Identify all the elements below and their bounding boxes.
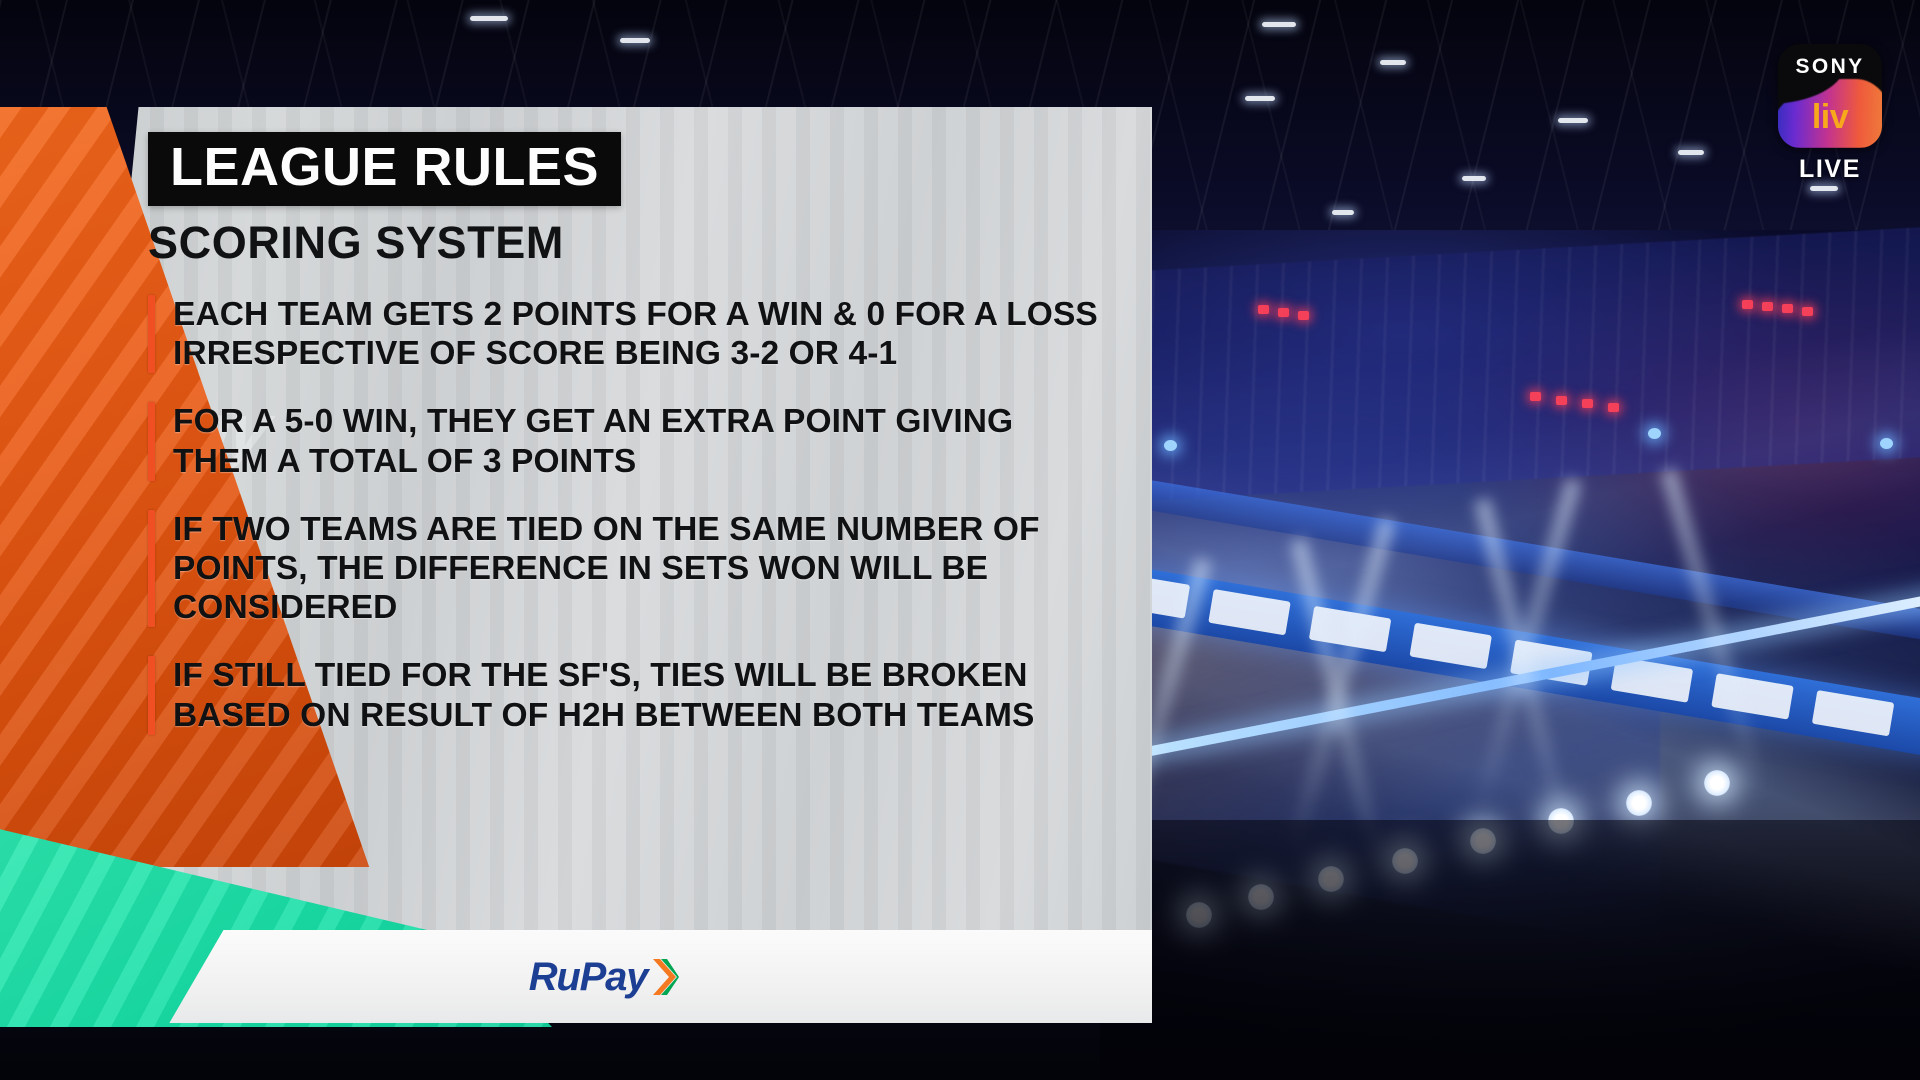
ceiling-light <box>1678 150 1704 155</box>
liv-service-text: liv <box>1778 100 1882 134</box>
league-rules-graphic-panel: RuPay LEAGUE RULES SCORING SYSTEM EACH T… <box>0 107 1152 1023</box>
ceiling-light <box>470 16 508 21</box>
rule-text: FOR A 5-0 WIN, THEY GET AN EXTRA POINT G… <box>173 402 1108 480</box>
list-item: FOR A 5-0 WIN, THEY GET AN EXTRA POINT G… <box>148 402 1108 480</box>
page-title-box: LEAGUE RULES <box>148 132 621 206</box>
rules-list: EACH TEAM GETS 2 POINTS FOR A WIN & 0 FO… <box>148 295 1108 735</box>
sony-liv-logo: SONY liv LIVE <box>1768 44 1892 182</box>
list-item: IF TWO TEAMS ARE TIED ON THE SAME NUMBER… <box>148 510 1108 628</box>
stage-red-light <box>1802 307 1813 316</box>
rule-accent-bar <box>148 295 155 373</box>
page-title: LEAGUE RULES <box>170 137 599 197</box>
stage-red-light <box>1298 311 1309 320</box>
stage-red-light <box>1530 392 1541 401</box>
rule-text: IF TWO TEAMS ARE TIED ON THE SAME NUMBER… <box>173 510 1108 628</box>
arena-led-wall <box>1100 227 1920 503</box>
rupay-logo: RuPay <box>529 956 680 998</box>
page-subtitle: SCORING SYSTEM <box>148 220 1108 265</box>
rule-accent-bar <box>148 656 155 734</box>
stage-red-light <box>1278 308 1289 317</box>
list-item: EACH TEAM GETS 2 POINTS FOR A WIN & 0 FO… <box>148 295 1108 373</box>
stage-blue-light <box>1164 440 1177 451</box>
stage-red-light <box>1782 304 1793 313</box>
ceiling-light <box>1245 96 1275 101</box>
stage-red-light <box>1762 302 1773 311</box>
stage-red-light <box>1608 403 1619 412</box>
ceiling-light <box>1462 176 1486 181</box>
ceiling-light <box>1558 118 1588 123</box>
stage-red-light <box>1742 300 1753 309</box>
stage-blue-light <box>1648 428 1661 439</box>
rule-accent-bar <box>148 402 155 480</box>
spotlight-lamp <box>1626 790 1652 816</box>
sony-liv-tile-icon: SONY liv <box>1778 44 1882 148</box>
rupay-chevron-icon <box>649 956 679 998</box>
stage-red-light <box>1582 399 1593 408</box>
rules-content: LEAGUE RULES SCORING SYSTEM EACH TEAM GE… <box>148 132 1108 764</box>
spotlight-lamp <box>1704 770 1730 796</box>
ceiling-light <box>620 38 650 43</box>
stage-red-light <box>1556 396 1567 405</box>
arena-foreground-shadow <box>1100 820 1920 1080</box>
ceiling-light <box>1380 60 1406 65</box>
rule-accent-bar <box>148 510 155 628</box>
ceiling-light <box>1332 210 1354 215</box>
stage-blue-light <box>1880 438 1893 449</box>
ceiling-light <box>1262 22 1296 27</box>
rule-text: EACH TEAM GETS 2 POINTS FOR A WIN & 0 FO… <box>173 295 1108 373</box>
rupay-wordmark: RuPay <box>529 957 648 997</box>
live-status-badge: LIVE <box>1799 157 1861 182</box>
rule-text: IF STILL TIED FOR THE SF'S, TIES WILL BE… <box>173 656 1108 734</box>
ceiling-light <box>1810 186 1838 191</box>
stage-red-light <box>1258 305 1269 314</box>
list-item: IF STILL TIED FOR THE SF'S, TIES WILL BE… <box>148 656 1108 734</box>
sony-brand-text: SONY <box>1778 56 1882 77</box>
